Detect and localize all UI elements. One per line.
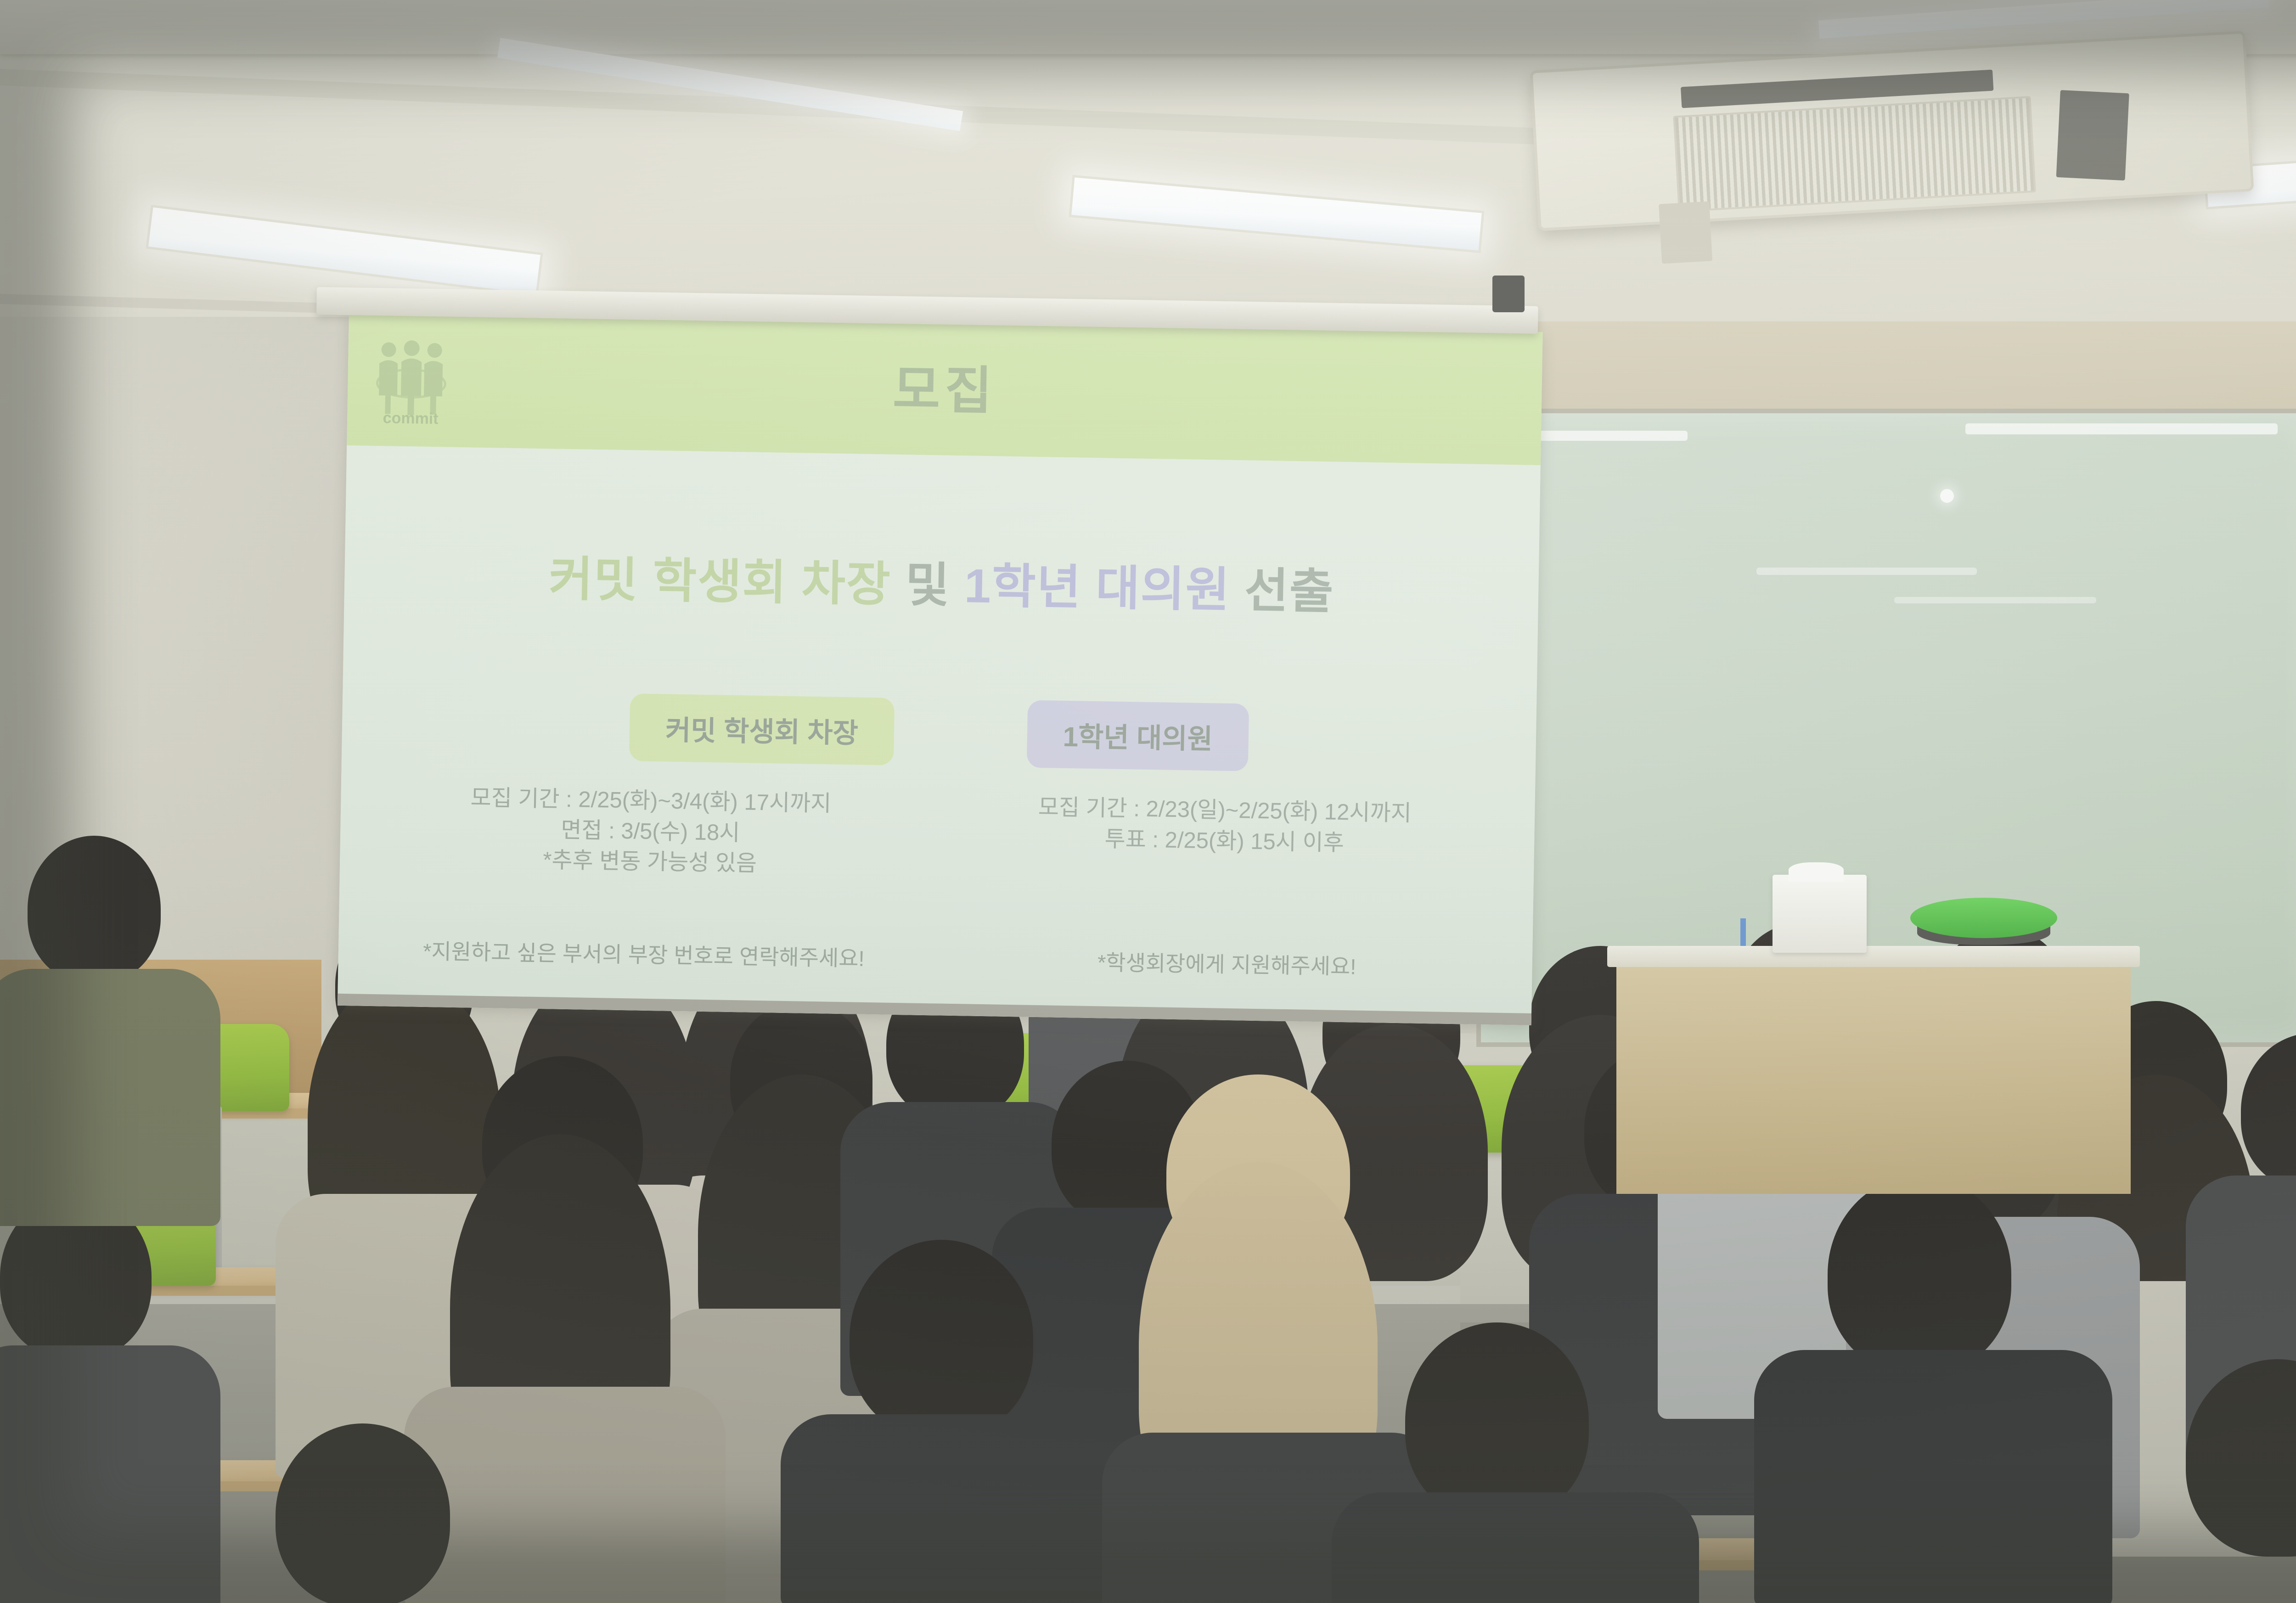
torso — [1332, 1492, 1699, 1603]
head — [850, 1240, 1033, 1437]
air-conditioner-vent-left — [1659, 201, 1712, 264]
detail-column-right: 모집 기간 : 2/23(일)~2/25(화) 12시까지 투표 : 2/25(… — [980, 791, 1469, 891]
torso — [0, 1345, 220, 1603]
torso — [0, 969, 220, 1226]
tissue-sheet — [1789, 862, 1844, 882]
slide-header-title: 모집 — [347, 339, 1542, 433]
footnote-right: *학생회장에게 지원해주세요! — [965, 942, 1489, 983]
torso — [1754, 1350, 2112, 1603]
air-conditioner-vent-right — [2056, 90, 2129, 180]
head — [1828, 1176, 2011, 1373]
whiteboard-glare-2 — [1965, 423, 2278, 434]
head — [28, 836, 161, 983]
green-tray — [1910, 898, 2057, 938]
footnote-left: *지원하고 싶은 부서의 부장 번호로 연락해주세요! — [382, 933, 906, 973]
main-title-part-select: 선출 — [1244, 564, 1334, 619]
main-title-part-purple: 1학년 대의원 — [964, 559, 1231, 617]
torso — [404, 1387, 726, 1603]
teacher-podium — [1616, 955, 2131, 1194]
main-title-part-and: 및 — [905, 558, 951, 613]
pill-freshman-delegate: 1학년 대의원 — [1027, 700, 1249, 771]
ceiling-beam-secondary — [0, 69, 1560, 145]
podium-top-surface — [1607, 946, 2140, 967]
head — [276, 1423, 450, 1603]
whiteboard-light-reflection — [1940, 489, 1954, 503]
air-conditioner-grille — [1673, 96, 2036, 212]
whiteboard-glare-4 — [1894, 597, 2096, 603]
slide-pill-row: 커밋 학생회 차장 1학년 대의원 — [342, 689, 1536, 776]
projector-screen-knob[interactable] — [1492, 276, 1525, 312]
slide-footnote-row: *지원하고 싶은 부서의 부장 번호로 연락해주세요! *학생회장에게 지원해주… — [338, 932, 1532, 984]
slide-header-band: commit 모집 — [347, 312, 1542, 465]
slide-body: 커밋 학생회 차장 및 1학년 대의원 선출 커밋 학생회 차장 1학년 대의원… — [338, 445, 1541, 1025]
slide-detail-row: 모집 기간 : 2/25(화)~3/4(화) 17시까지 면접 : 3/5(수)… — [340, 781, 1535, 892]
tissue-box — [1773, 875, 1867, 953]
projector-screen: commit 모집 커밋 학생회 차장 및 1학년 대의원 선출 커밋 학생회 … — [338, 312, 1543, 1025]
pen — [1740, 918, 1746, 946]
slide-main-title: 커밋 학생회 차장 및 1학년 대의원 선출 — [344, 536, 1539, 625]
torso — [781, 1414, 1130, 1603]
classroom-presentation-scene: commit 모집 커밋 학생회 차장 및 1학년 대의원 선출 커밋 학생회 … — [0, 0, 2296, 1603]
footnote-right-wrap: *학생회장에게 지원해주세요! — [965, 942, 1489, 983]
detail-column-left: 모집 기간 : 2/25(화)~3/4(화) 17시까지 면접 : 3/5(수)… — [406, 782, 895, 881]
head — [1405, 1322, 1589, 1520]
pill-staff-position: 커밋 학생회 차장 — [629, 693, 895, 765]
footnote-left-wrap: *지원하고 싶은 부서의 부장 번호로 연락해주세요! — [382, 933, 906, 973]
main-title-part-green: 커밋 학생회 차장 — [548, 552, 891, 611]
whiteboard-glare-3 — [1756, 568, 1977, 575]
